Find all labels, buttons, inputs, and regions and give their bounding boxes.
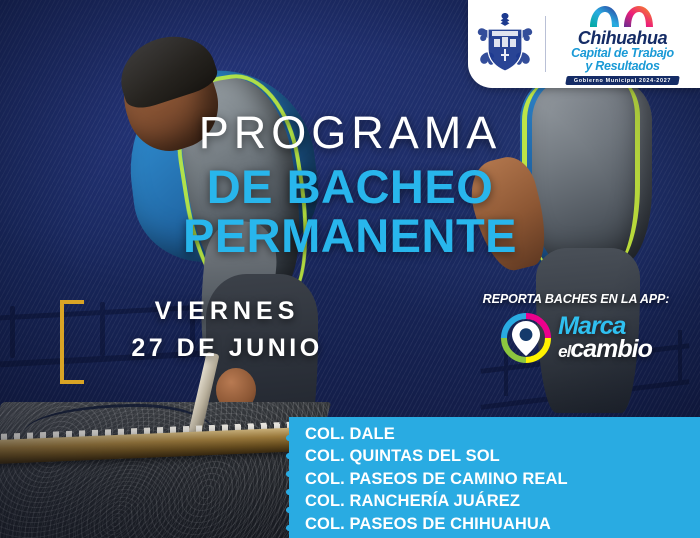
chihuahua-tagline-line1: Capital de Trabajo bbox=[571, 47, 674, 61]
date-text: VIERNES 27 DE JUNIO bbox=[96, 296, 358, 365]
government-logo-card: Chihuahua Capital de Trabajo y Resultado… bbox=[468, 0, 700, 88]
app-wordmark: Marca elcambio bbox=[558, 315, 652, 361]
app-name-el-cambio: elcambio bbox=[558, 338, 652, 361]
government-period-text: Gobierno Municipal 2024-2027 bbox=[574, 77, 671, 83]
app-name-el: el bbox=[558, 342, 570, 361]
list-item: COL. RANCHERÍA JUÁREZ bbox=[305, 490, 700, 512]
list-item: COL. PASEOS DE CAMINO REAL bbox=[305, 468, 700, 490]
gold-bracket-decoration bbox=[60, 300, 84, 384]
chihuahua-arches-icon bbox=[586, 4, 660, 28]
chihuahua-city-name: Chihuahua bbox=[578, 29, 667, 47]
app-logo-row: Marca elcambio bbox=[462, 312, 690, 364]
logo-divider bbox=[545, 16, 546, 72]
colonias-dotted-edge bbox=[280, 429, 298, 538]
colonias-panel: COL. DALE COL. QUINTAS DEL SOL COL. PASE… bbox=[289, 417, 700, 538]
chihuahua-tagline-line2: y Resultados bbox=[585, 60, 659, 74]
chihuahua-coat-of-arms-icon bbox=[471, 6, 539, 82]
chihuahua-brand-logo: Chihuahua Capital de Trabajo y Resultado… bbox=[552, 4, 698, 85]
location-pin-icon bbox=[500, 312, 552, 364]
app-name-cambio: cambio bbox=[570, 335, 652, 363]
date-weekday: VIERNES bbox=[96, 296, 358, 327]
government-period-badge: Gobierno Municipal 2024-2027 bbox=[565, 76, 680, 85]
app-caption: REPORTA BACHES EN LA APP: bbox=[462, 292, 690, 306]
poster-canvas: Chihuahua Capital de Trabajo y Resultado… bbox=[0, 0, 700, 538]
date-day-month: 27 DE JUNIO bbox=[96, 333, 358, 364]
list-item: COL. DALE bbox=[305, 423, 700, 445]
list-item: COL. PASEOS DE CHIHUAHUA bbox=[305, 513, 700, 535]
list-item: COL. QUINTAS DEL SOL bbox=[305, 445, 700, 467]
app-promo-block: REPORTA BACHES EN LA APP: Marca elcambio bbox=[462, 292, 690, 364]
date-block: VIERNES 27 DE JUNIO bbox=[60, 296, 360, 378]
